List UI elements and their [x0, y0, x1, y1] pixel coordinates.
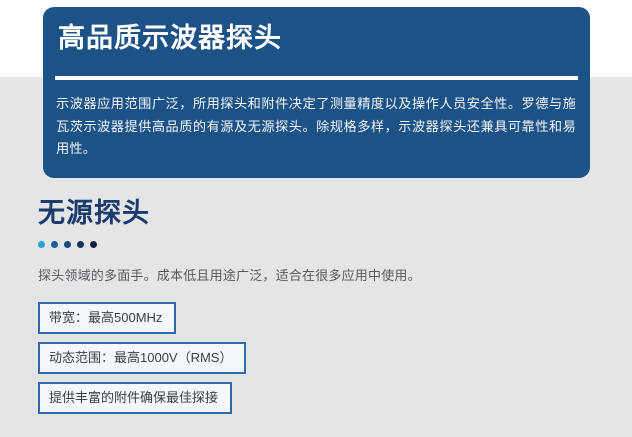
carousel-dot-4[interactable] [77, 241, 84, 248]
hero-divider [55, 76, 578, 80]
page-root: 高品质示波器探头 示波器应用范围广泛，所用探头和附件决定了测量精度以及操作人员安… [0, 0, 632, 437]
spec-box-3: 提供丰富的附件确保最佳探接 [38, 382, 232, 414]
carousel-dot-1[interactable] [38, 241, 45, 248]
dot-indicator-row [38, 240, 598, 248]
passive-probe-section: 无源探头 探头领域的多面手。成本低且用途广泛，适合在很多应用中使用。 带宽：最高… [38, 196, 598, 414]
spec-box-2: 动态范围：最高1000V（RMS） [38, 342, 246, 374]
section-lead-text: 探头领域的多面手。成本低且用途广泛，适合在很多应用中使用。 [38, 266, 598, 286]
spec-box-1: 带宽：最高500MHz [38, 302, 176, 334]
spec-box-list: 带宽：最高500MHz动态范围：最高1000V（RMS）提供丰富的附件确保最佳探… [38, 302, 598, 414]
carousel-dot-2[interactable] [51, 241, 58, 248]
section-heading: 无源探头 [38, 196, 598, 230]
hero-title: 高品质示波器探头 [58, 19, 282, 57]
hero-card: 高品质示波器探头 示波器应用范围广泛，所用探头和附件决定了测量精度以及操作人员安… [43, 7, 590, 178]
hero-body-text: 示波器应用范围广泛，所用探头和附件决定了测量精度以及操作人员安全性。罗德与施瓦茨… [56, 93, 576, 161]
carousel-dot-5[interactable] [90, 241, 97, 248]
carousel-dot-3[interactable] [64, 241, 71, 248]
